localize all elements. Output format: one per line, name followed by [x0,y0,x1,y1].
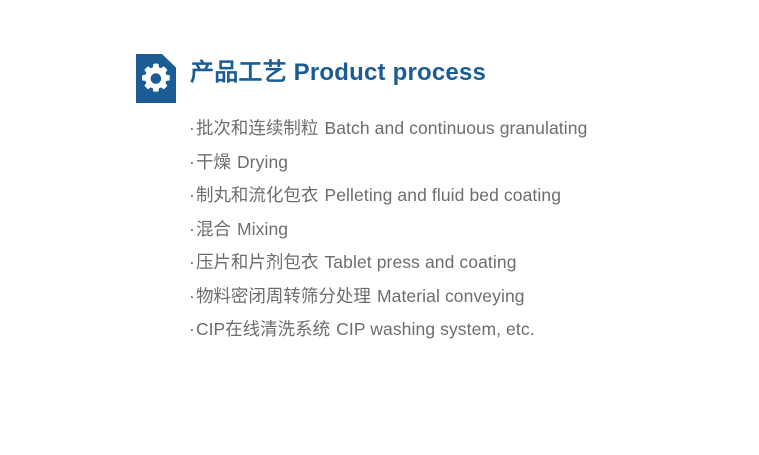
product-process-panel: 产品工艺 Product process ·批次和连续制粒Batch and c… [0,0,759,455]
list-item-label-en: Drying [237,152,288,172]
bullet-icon: · [189,112,195,146]
list-item: ·混合Mixing [189,213,587,247]
list-item: ·批次和连续制粒Batch and continuous granulating [189,112,587,146]
list-item: ·CIP在线清洗系统CIP washing system, etc. [189,313,587,347]
list-item: ·物料密闭周转筛分处理Material conveying [189,280,587,314]
list-item-label-en: CIP washing system, etc. [336,319,535,339]
list-item-label-cn: 物料密闭周转筛分处理 [196,286,371,306]
page-title: 产品工艺 Product process [190,58,486,88]
list-item: ·压片和片剂包衣Tablet press and coating [189,246,587,280]
list-item-label-en: Tablet press and coating [324,252,516,272]
bullet-icon: · [189,213,195,247]
list-item-label-en: Pelleting and fluid bed coating [324,185,561,205]
bullet-icon: · [189,280,195,314]
list-item-label-cn: 批次和连续制粒 [196,118,319,138]
document-gear-icon [136,54,176,103]
list-item-label-cn: 混合 [196,219,231,239]
list-item-label-en: Mixing [237,219,288,239]
process-list: ·批次和连续制粒Batch and continuous granulating… [189,112,587,347]
list-item-label-en: Batch and continuous granulating [324,118,587,138]
bullet-icon: · [189,146,195,180]
bullet-icon: · [189,246,195,280]
list-item: ·干燥Drying [189,146,587,180]
list-item-label-cn: 干燥 [196,152,231,172]
list-item-label-cn: 制丸和流化包衣 [196,185,319,205]
list-item: ·制丸和流化包衣Pelleting and fluid bed coating [189,179,587,213]
bullet-icon: · [189,313,195,347]
list-item-label-cn: 压片和片剂包衣 [196,252,319,272]
bullet-icon: · [189,179,195,213]
list-item-label-en: Material conveying [377,286,525,306]
list-item-label-cn: CIP在线清洗系统 [196,319,330,339]
section-header: 产品工艺 Product process [136,54,486,103]
